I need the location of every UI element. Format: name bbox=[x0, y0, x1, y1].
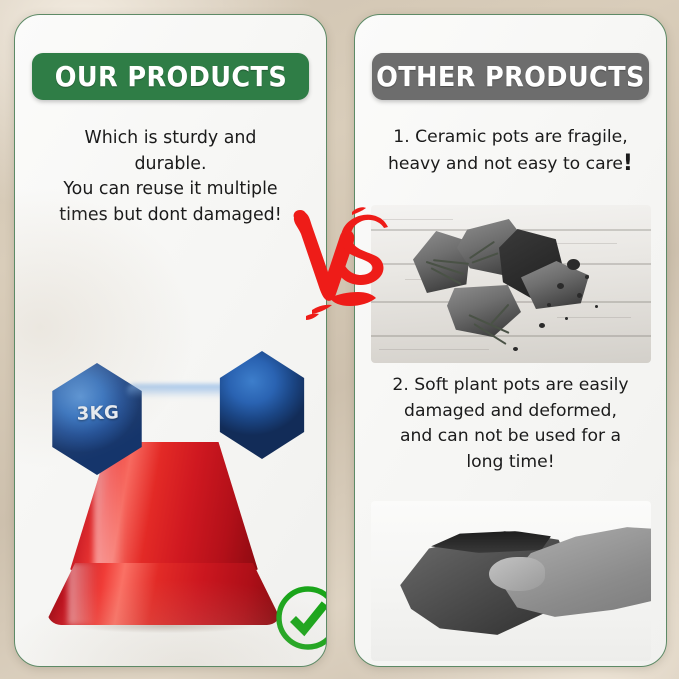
other-products-point-two: 2. Soft plant pots are easily damaged an… bbox=[369, 373, 652, 475]
deformed-soft-pot-photo bbox=[371, 501, 651, 661]
pot-rim bbox=[47, 563, 281, 625]
comparison-infographic: OUR PRODUCTS Which is sturdy and durable… bbox=[0, 0, 679, 679]
our-products-panel: OUR PRODUCTS Which is sturdy and durable… bbox=[14, 14, 327, 667]
other-products-panel: OTHER PRODUCTS 1. Ceramic pots are fragi… bbox=[354, 14, 667, 667]
other-products-point-one: 1. Ceramic pots are fragile, heavy and n… bbox=[369, 125, 652, 177]
our-products-header: OUR PRODUCTS bbox=[32, 53, 309, 100]
blue-dumbbell: 3KG bbox=[15, 345, 326, 485]
other-products-header: OTHER PRODUCTS bbox=[372, 53, 649, 100]
thumb bbox=[489, 557, 545, 591]
our-products-description: Which is sturdy and durable. You can reu… bbox=[29, 126, 312, 228]
point-one-exclamation: ! bbox=[623, 151, 633, 176]
point-one-text: 1. Ceramic pots are fragile, heavy and n… bbox=[388, 127, 628, 174]
dumbbell-head-right bbox=[213, 351, 311, 459]
broken-ceramic-pot-photo bbox=[371, 205, 651, 363]
dumbbell-weight-label: 3KG bbox=[61, 402, 136, 426]
other-products-header-label: OTHER PRODUCTS bbox=[376, 61, 645, 93]
our-products-header-label: OUR PRODUCTS bbox=[54, 61, 286, 93]
check-mark-icon bbox=[273, 583, 327, 653]
